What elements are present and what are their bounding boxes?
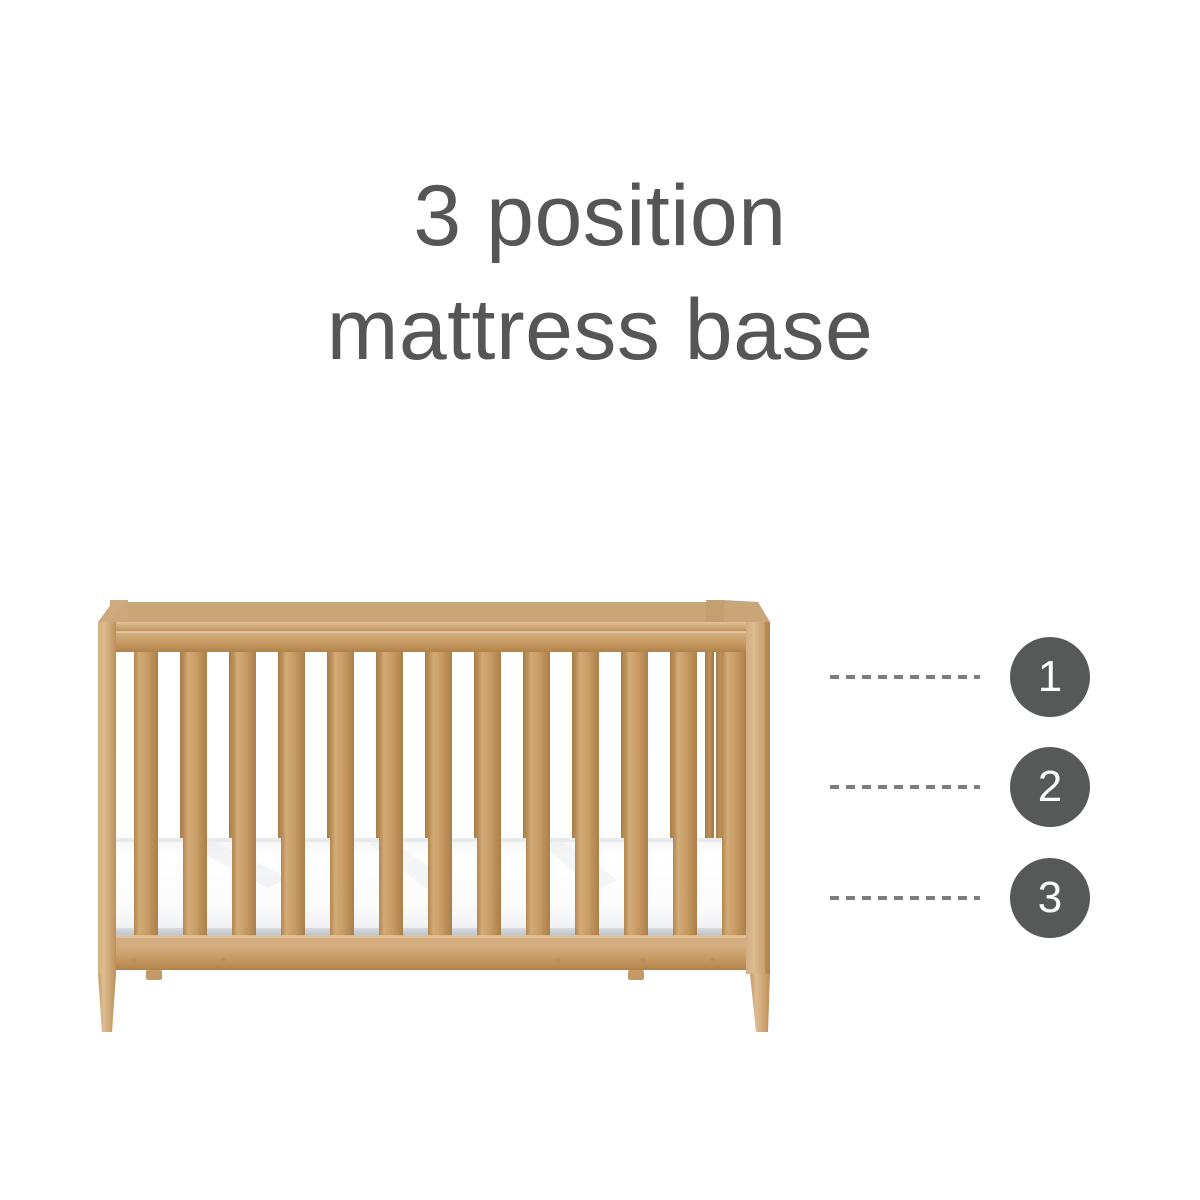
callout-position-2[interactable]: 2 [830,747,1100,827]
callout-position-3[interactable]: 3 [830,858,1100,938]
callout-badge-3[interactable]: 3 [1010,858,1090,938]
product-feature-graphic: 3 position mattress base [0,0,1200,1200]
callout-badge-2[interactable]: 2 [1010,747,1090,827]
callout-badge-1[interactable]: 1 [1010,637,1090,717]
cot-bottom-rail [98,935,770,980]
page-title: 3 position mattress base [0,160,1200,387]
cot-illustration [88,588,788,1040]
callout-leader-line-1 [830,675,980,679]
cot-left-post [98,622,116,1032]
callout-position-1[interactable]: 1 [830,637,1100,717]
callout-leader-line-3 [830,896,980,900]
callout-leader-line-2 [830,785,980,789]
cot-right-post [746,622,770,1032]
cot-svg [88,588,788,1040]
